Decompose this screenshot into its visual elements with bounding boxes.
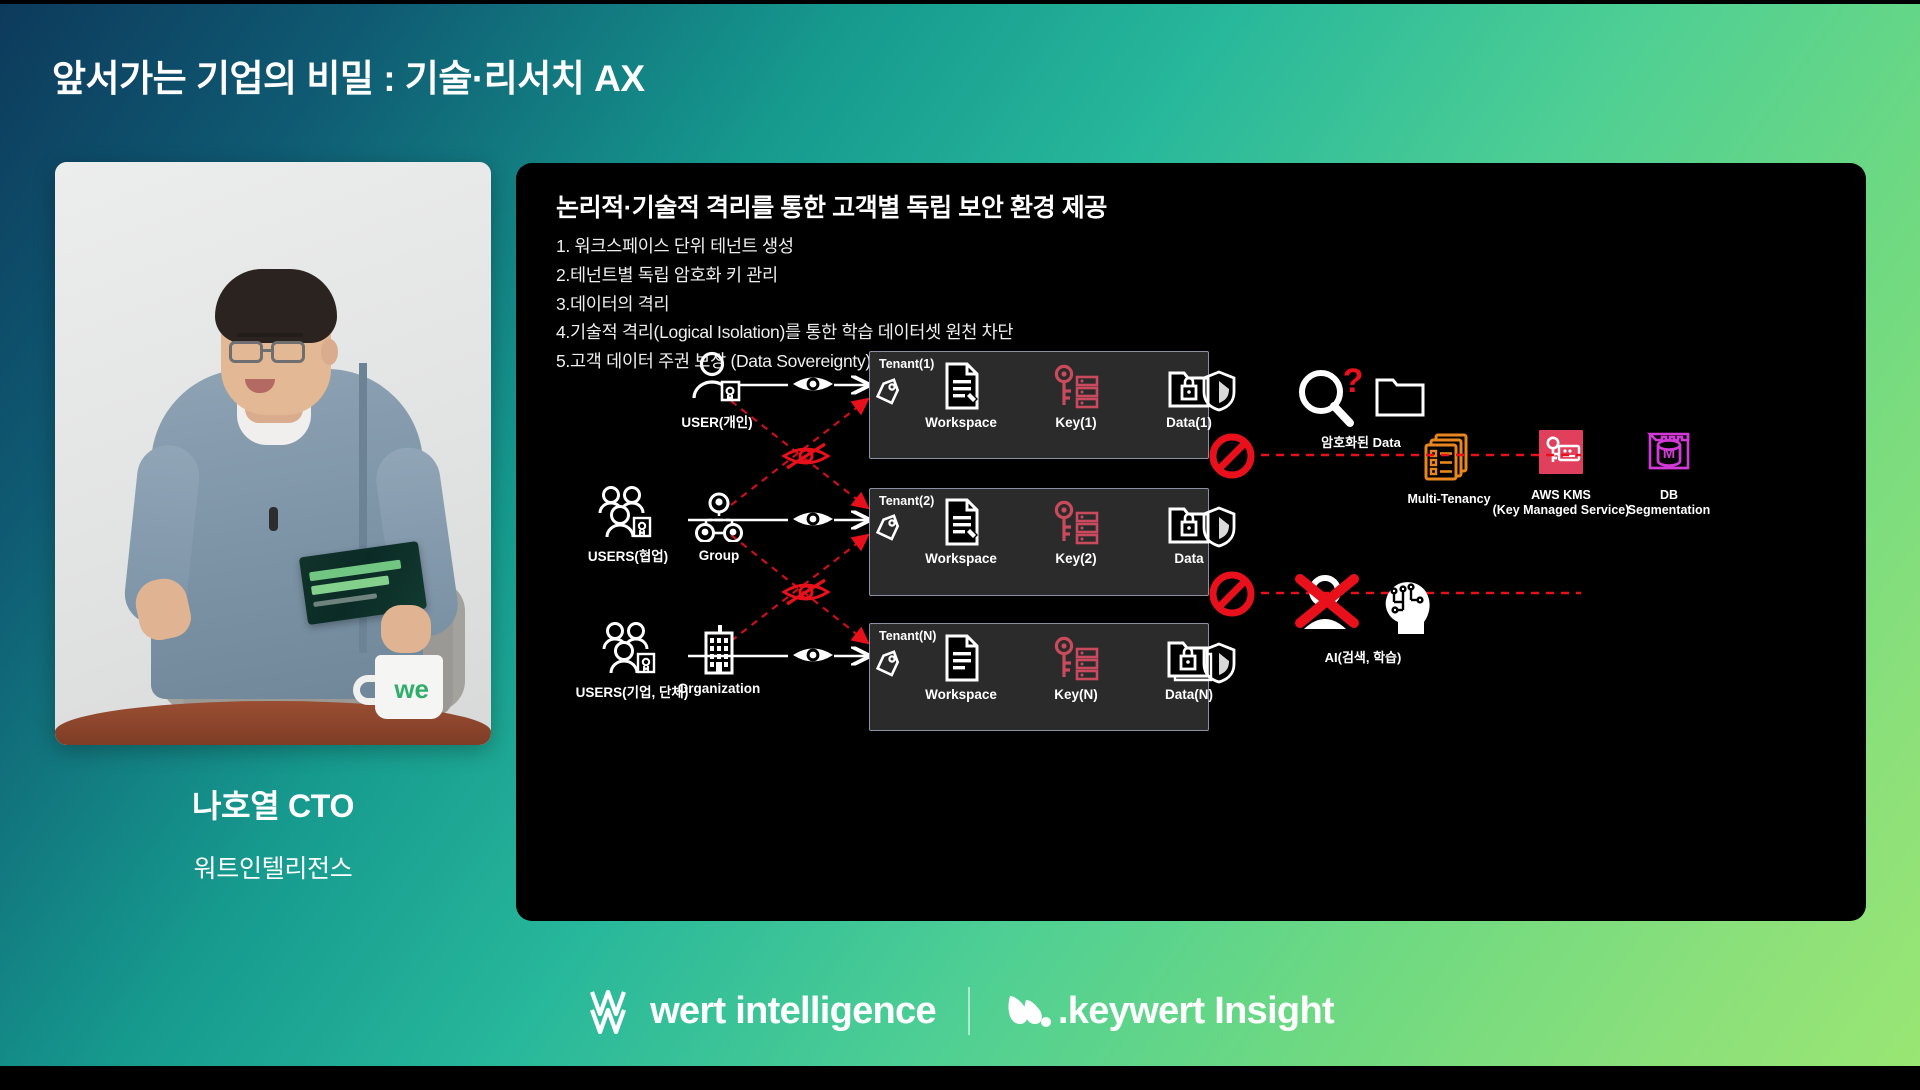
actor-label: USER(개인)	[647, 411, 787, 431]
footer-logos: wert intelligence .keywert Insight	[0, 984, 1920, 1038]
workspace-label: Workspace	[901, 415, 1021, 430]
lapel-mic-icon	[269, 507, 278, 531]
eye-blocked-1	[779, 439, 833, 478]
tenant-2-key: Key(2)	[1016, 495, 1136, 566]
tenant-n-shield	[1200, 641, 1238, 690]
speaker-organization: 워트인텔리전스	[55, 849, 491, 885]
tag-icon	[871, 647, 903, 677]
tag-icon	[871, 511, 903, 541]
eye-allowed-row1	[790, 369, 836, 404]
speaker-photo: we	[55, 162, 491, 745]
eye-blocked-icon	[779, 575, 833, 609]
tenant-2-tag-icon	[871, 511, 903, 546]
speaker-name: 나호열 CTO	[55, 781, 491, 827]
tenant-n-workspace: Workspace	[901, 631, 1021, 702]
eye-blocked-2	[779, 575, 833, 614]
eye-icon	[790, 369, 836, 399]
person-brow	[237, 333, 303, 337]
person-right-hand	[381, 605, 431, 653]
tenant-1-tag-icon	[871, 375, 903, 410]
ai-brain-icon	[1376, 576, 1434, 636]
key-icon	[1016, 359, 1136, 411]
shield-icon	[1200, 505, 1238, 549]
glasses-right-lens	[271, 341, 305, 363]
ai-blocked-block: AI(검색, 학습)	[1268, 573, 1458, 666]
document-icon	[901, 631, 1021, 683]
keywert-leaf-icon	[1002, 986, 1056, 1036]
key-label: Key(2)	[1016, 551, 1136, 566]
logo-wert-intelligence: wert intelligence	[586, 984, 936, 1038]
no-entry-icon	[1208, 432, 1256, 480]
actor-group: Group	[654, 488, 784, 563]
eye-allowed-row3	[790, 640, 836, 675]
tenant-1-shield	[1200, 369, 1238, 418]
slide-panel: 논리적·기술적 격리를 통한 고객별 독립 보안 환경 제공 1. 워크스페이스…	[516, 163, 1866, 921]
page-title: 앞서가는 기업의 비밀 : 기술·리서치 AX	[52, 48, 645, 102]
logo-keywert-insight: .keywert Insight	[1002, 986, 1334, 1036]
key-icon	[1016, 495, 1136, 547]
no-entry-1	[1208, 432, 1256, 485]
document-icon	[901, 359, 1021, 411]
actor-user-individual: USER(개인)	[647, 351, 787, 431]
tenant-1-workspace: Workspace	[901, 359, 1021, 430]
glasses-left-lens	[229, 341, 263, 363]
key-icon	[1016, 631, 1136, 683]
logo-wert-text: wert intelligence	[650, 990, 936, 1033]
folder-icon	[1371, 372, 1429, 422]
magnifier-icon: ?	[1293, 366, 1365, 428]
tag-icon	[871, 375, 903, 405]
eye-icon	[790, 640, 836, 670]
wert-logo-icon	[586, 984, 640, 1038]
tenant-n-tag-icon	[871, 647, 903, 682]
document-icon	[901, 495, 1021, 547]
person-mouth	[245, 379, 275, 393]
user-icon	[647, 351, 787, 405]
actor-label: Organization	[653, 681, 785, 696]
shield-icon	[1200, 641, 1238, 685]
shield-icon	[1200, 369, 1238, 413]
workspace-label: Workspace	[901, 687, 1021, 702]
group-icon	[654, 488, 784, 542]
actor-organization: Organization	[653, 621, 785, 696]
tenant-1-key: Key(1)	[1016, 359, 1136, 430]
no-entry-2	[1208, 570, 1256, 623]
mug-logo-icon: we	[394, 674, 429, 705]
person-ear	[321, 339, 338, 365]
letterbox-top	[0, 0, 1920, 4]
building-icon	[653, 621, 785, 675]
blocked-search-icon	[1292, 573, 1364, 639]
encrypted-data-block: ? 암호화된 Data	[1266, 366, 1456, 451]
key-label: Key(1)	[1016, 415, 1136, 430]
key-label: Key(N)	[1016, 687, 1136, 702]
tenant-2-shield	[1200, 505, 1238, 554]
brochure-line-3	[313, 593, 377, 607]
logo-keywert-text: .keywert Insight	[1058, 990, 1334, 1033]
letterbox-bottom	[0, 1066, 1920, 1090]
tenant-2-workspace: Workspace	[901, 495, 1021, 566]
eye-icon	[790, 504, 836, 534]
ai-blocked-label: AI(검색, 학습)	[1268, 647, 1458, 666]
glasses-bridge	[263, 349, 273, 352]
person-head	[221, 279, 331, 415]
person-hair	[215, 269, 337, 343]
no-entry-icon	[1208, 570, 1256, 618]
slide-stage: 앞서가는 기업의 비밀 : 기술·리서치 AX	[0, 0, 1920, 1090]
question-mark-icon: ?	[1343, 366, 1364, 400]
tenant-n-key: Key(N)	[1016, 631, 1136, 702]
eye-blocked-icon	[779, 439, 833, 473]
eye-allowed-row2	[790, 504, 836, 539]
encrypted-data-label: 암호화된 Data	[1266, 432, 1456, 451]
workspace-label: Workspace	[901, 551, 1021, 566]
speaker-card: we 나호열 CTO 워트인텔리전스	[55, 162, 491, 885]
actor-label: Group	[654, 548, 784, 563]
logo-divider	[968, 987, 970, 1035]
